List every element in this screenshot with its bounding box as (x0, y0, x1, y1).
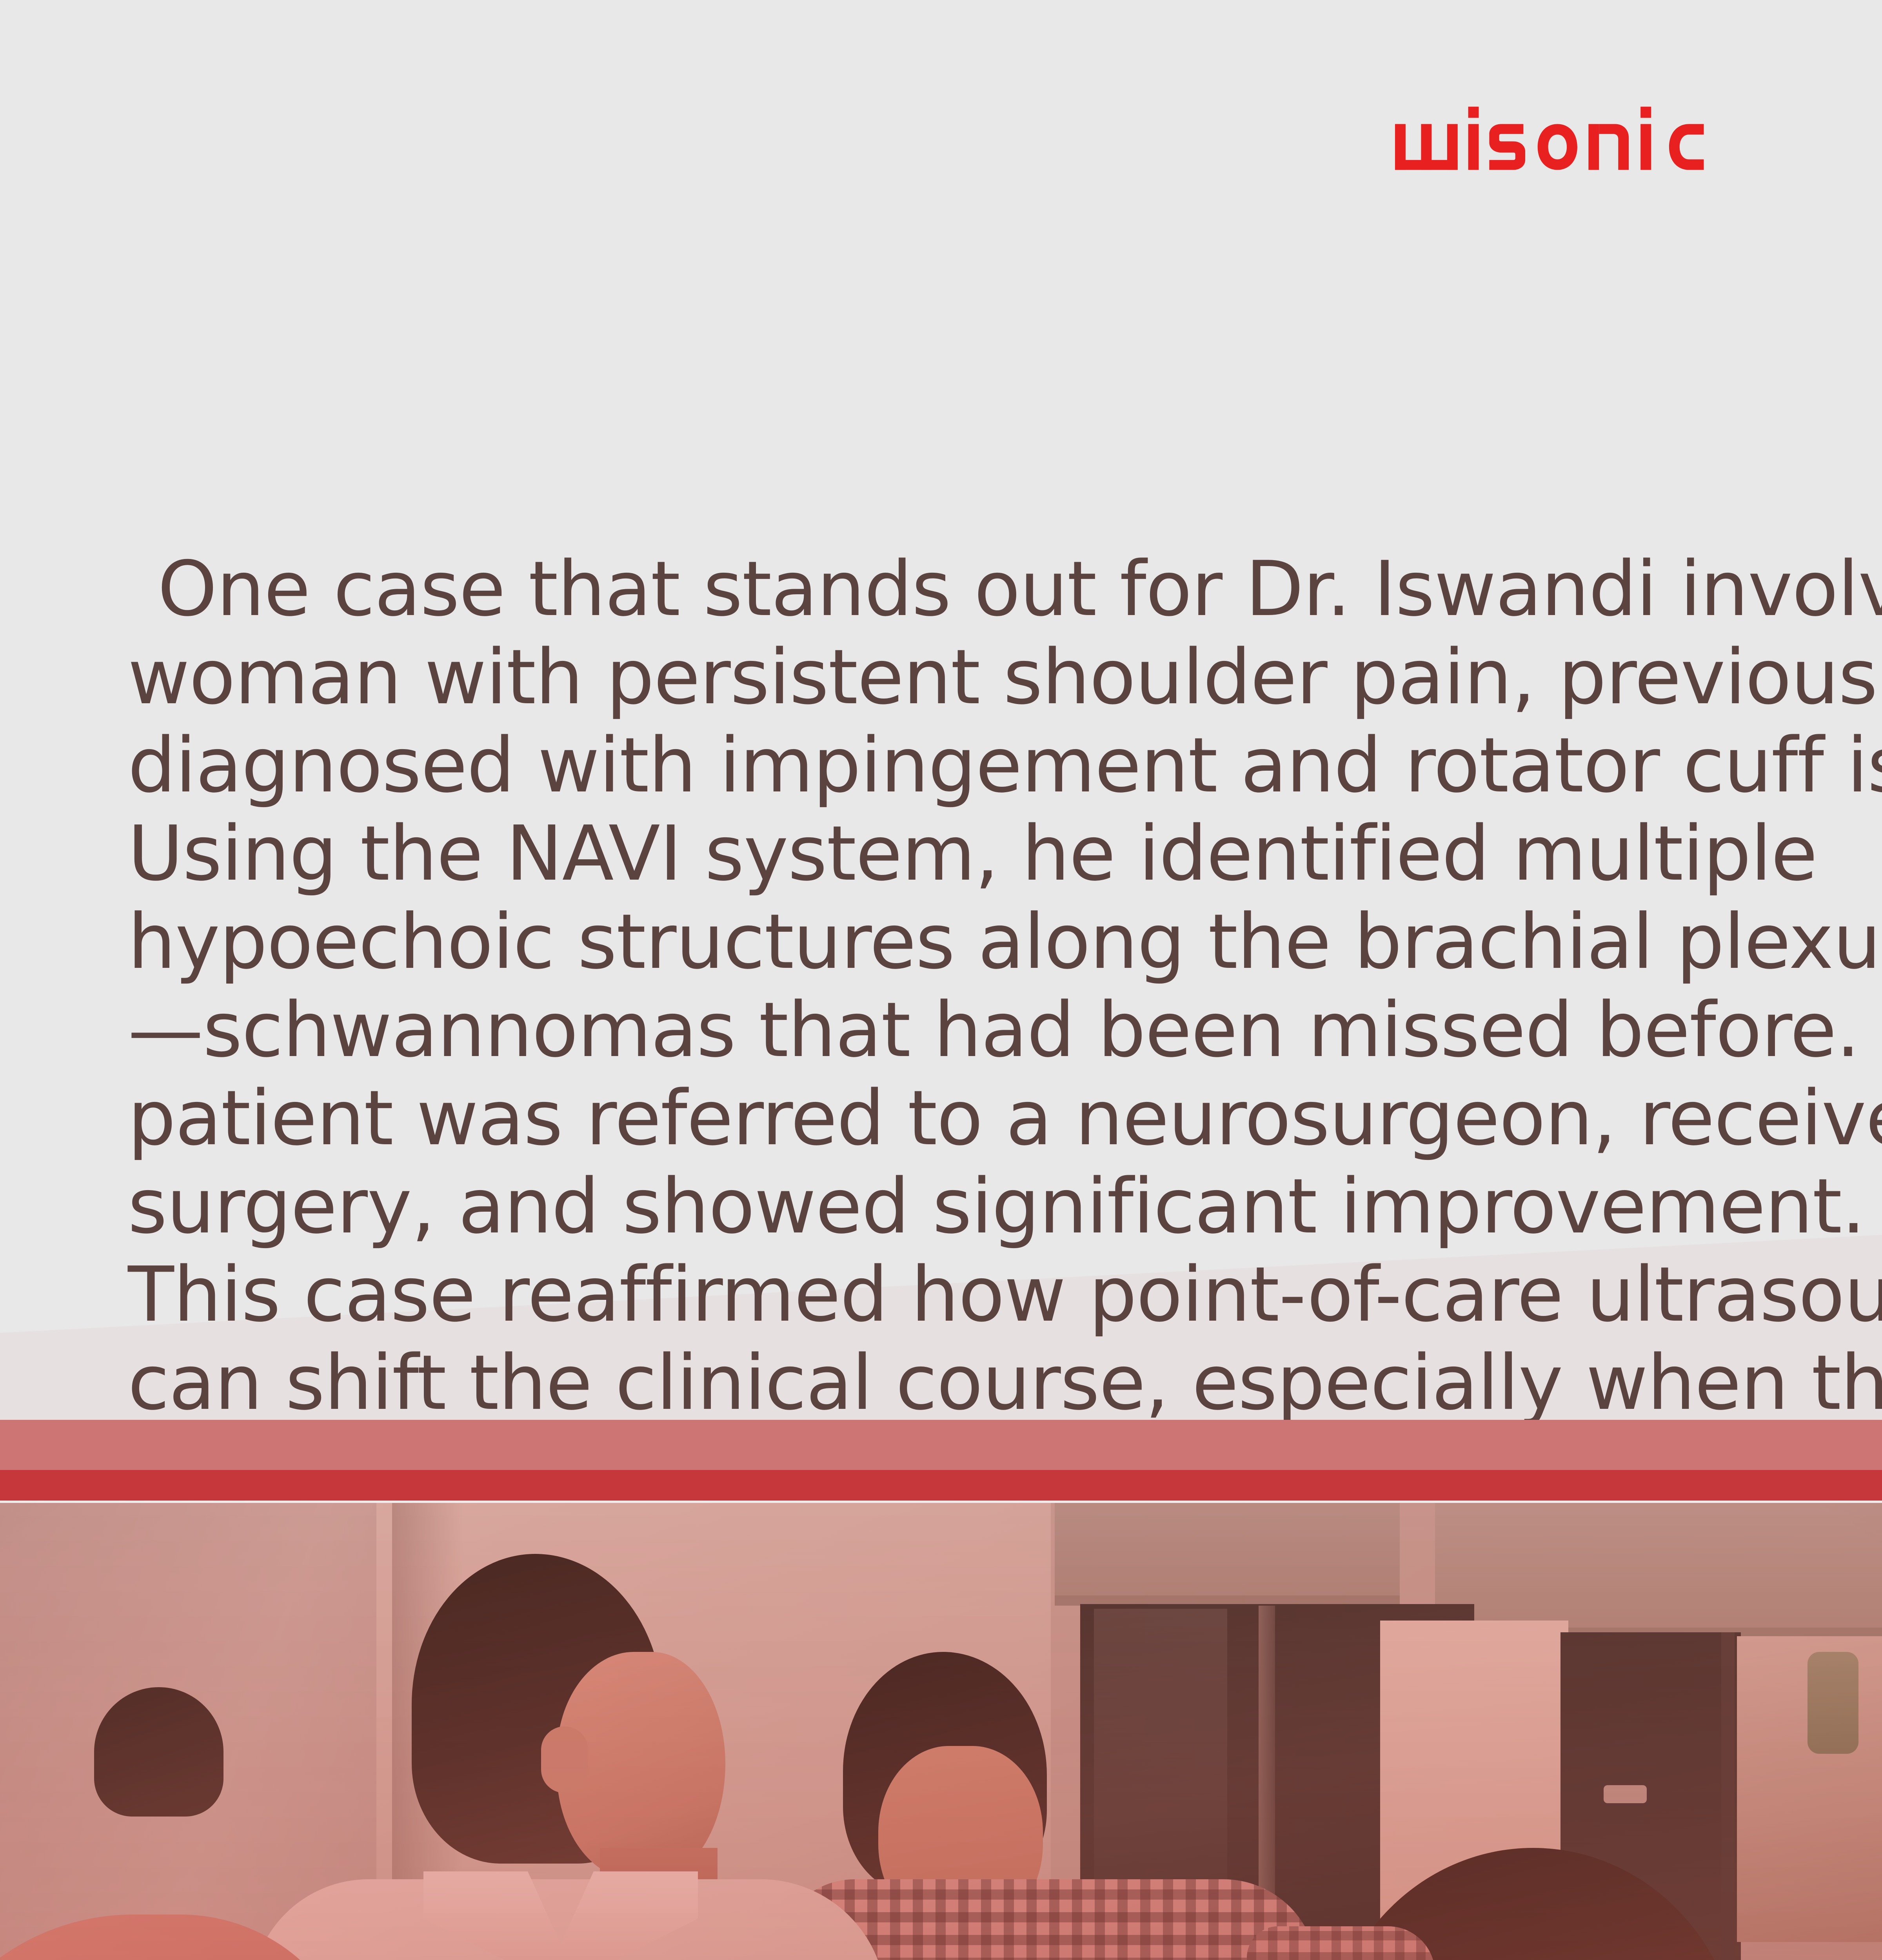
body-line: diagnosed with impingement and rotator c… (128, 721, 1790, 809)
red-divider-stripe (0, 1470, 1882, 1501)
training-session-photo (0, 1503, 1882, 1960)
body-line: surgery, and showed significant improvem… (128, 1162, 1790, 1250)
top-panel: One case that stands out for Dr. Iswandi… (0, 0, 1882, 1356)
body-line: woman with persistent shoulder pain, pre… (128, 633, 1790, 721)
vignette-overlay (0, 1503, 1882, 1960)
body-line: can shift the clinical course, especiall… (128, 1339, 1790, 1427)
body-line: —schwannomas that had been missed before… (128, 986, 1790, 1074)
body-line: hypoechoic structures along the brachial… (128, 898, 1790, 986)
body-line: patient was referred to a neurosurgeon, … (128, 1074, 1790, 1162)
wisonic-logo[interactable] (1395, 107, 1792, 181)
body-line: This case reaffirmed how point-of-care u… (128, 1250, 1790, 1339)
salmon-divider-stripe (0, 1420, 1882, 1470)
body-line: Using the NAVI system, he identified mul… (128, 809, 1790, 898)
poster-page: One case that stands out for Dr. Iswandi… (0, 0, 1882, 1960)
body-line: One case that stands out for Dr. Iswandi… (128, 545, 1790, 633)
